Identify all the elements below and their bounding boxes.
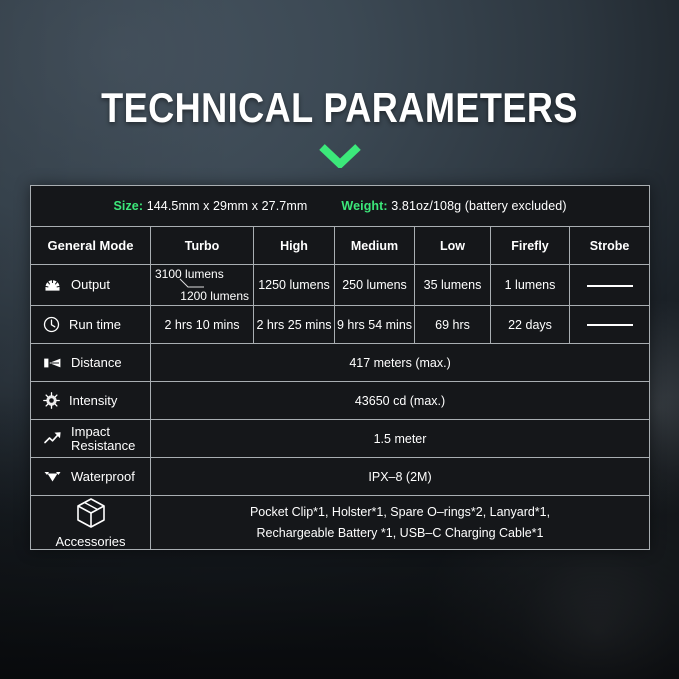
row-label-accessories: Accessories	[31, 496, 151, 550]
cell-waterproof-value: IPX–8 (2M)	[151, 458, 650, 496]
weight-spec: Weight: 3.81oz/108g (battery excluded)	[341, 199, 566, 213]
package-box-icon	[74, 496, 108, 530]
impact-label-line2: Resistance	[71, 438, 135, 453]
row-label-run-time: Run time	[31, 306, 151, 344]
target-intensity-icon	[43, 392, 60, 409]
size-value: 144.5mm x 29mm x 27.7mm	[147, 199, 308, 213]
row-label-text-accessories: Accessories	[55, 535, 125, 549]
cell-intensity-value: 43650 cd (max.)	[151, 382, 650, 420]
cell-distance-value: 417 meters (max.)	[151, 344, 650, 382]
cell-output-firefly: 1 lumens	[491, 265, 570, 306]
impact-label-line1: Impact	[71, 424, 110, 439]
column-header-turbo: Turbo	[151, 227, 254, 265]
size-weight-banner: Size: 144.5mm x 29mm x 27.7mm Weight: 3.…	[31, 186, 650, 227]
cell-output-medium: 250 lumens	[335, 265, 415, 306]
chevron-down-icon	[319, 144, 361, 168]
column-header-firefly: Firefly	[491, 227, 570, 265]
column-header-low: Low	[415, 227, 491, 265]
cell-runtime-strobe	[570, 306, 650, 344]
beam-distance-icon	[43, 356, 62, 370]
cell-runtime-turbo: 2 hrs 10 mins	[151, 306, 254, 344]
cell-impact-resistance-value: 1.5 meter	[151, 420, 650, 458]
row-label-text-run-time: Run time	[69, 318, 121, 332]
cell-runtime-firefly: 22 days	[491, 306, 570, 344]
table-header-row-modes: General Mode Turbo High Medium Low Firef…	[31, 227, 650, 265]
row-label-text-distance: Distance	[71, 356, 122, 370]
accessories-line-2: Rechargeable Battery *1, USB–C Charging …	[151, 523, 649, 544]
table-row-intensity: Intensity 43650 cd (max.)	[31, 382, 650, 420]
row-label-waterproof: Waterproof	[31, 458, 151, 496]
table-row-run-time: Run time 2 hrs 10 mins 2 hrs 25 mins 9 h…	[31, 306, 650, 344]
cell-output-strobe	[570, 265, 650, 306]
column-header-general-mode: General Mode	[31, 227, 151, 265]
cell-output-low: 35 lumens	[415, 265, 491, 306]
table-row-output: Output 3100 lumens 1200 lumens 1250 lume…	[31, 265, 650, 306]
table-row-distance: Distance 417 meters (max.)	[31, 344, 650, 382]
size-label: Size:	[113, 199, 143, 213]
row-label-text-output: Output	[71, 278, 110, 292]
size-spec: Size: 144.5mm x 29mm x 27.7mm	[113, 199, 307, 213]
page-title: TECHNICAL PARAMETERS	[48, 82, 632, 134]
row-label-output: Output	[31, 265, 151, 306]
accessories-line-1: Pocket Clip*1, Holster*1, Spare O–rings*…	[151, 502, 649, 523]
column-header-strobe: Strobe	[570, 227, 650, 265]
output-turbo-secondary: 1200 lumens	[180, 289, 249, 303]
row-label-distance: Distance	[31, 344, 151, 382]
weight-label: Weight:	[341, 199, 387, 213]
spec-table-container: Size: 144.5mm x 29mm x 27.7mm Weight: 3.…	[30, 185, 649, 550]
column-header-high: High	[254, 227, 335, 265]
row-label-text-impact-resistance: ImpactResistance	[71, 425, 135, 453]
empty-dash-icon	[587, 324, 633, 326]
cell-accessories-value: Pocket Clip*1, Holster*1, Spare O–rings*…	[151, 496, 650, 550]
cell-runtime-low: 69 hrs	[415, 306, 491, 344]
row-label-impact-resistance: ImpactResistance	[31, 420, 151, 458]
row-label-text-waterproof: Waterproof	[71, 470, 135, 484]
row-label-intensity: Intensity	[31, 382, 151, 420]
table-row-size-weight: Size: 144.5mm x 29mm x 27.7mm Weight: 3.…	[31, 186, 650, 227]
cell-runtime-high: 2 hrs 25 mins	[254, 306, 335, 344]
cell-runtime-medium: 9 hrs 54 mins	[335, 306, 415, 344]
row-label-text-intensity: Intensity	[69, 394, 117, 408]
table-row-accessories: Accessories Pocket Clip*1, Holster*1, Sp…	[31, 496, 650, 550]
empty-dash-icon	[587, 285, 633, 287]
cell-output-high: 1250 lumens	[254, 265, 335, 306]
spec-sheet-page: TECHNICAL PARAMETERS Size: 144.5mm x 29m…	[0, 0, 679, 679]
hammer-impact-icon	[43, 430, 62, 447]
title-block: TECHNICAL PARAMETERS	[0, 82, 679, 173]
weight-value: 3.81oz/108g (battery excluded)	[391, 199, 566, 213]
clock-icon	[43, 316, 60, 333]
column-header-medium: Medium	[335, 227, 415, 265]
technical-parameters-table: Size: 144.5mm x 29mm x 27.7mm Weight: 3.…	[30, 185, 650, 550]
cell-output-turbo: 3100 lumens 1200 lumens	[151, 265, 254, 306]
light-output-icon	[43, 278, 62, 293]
table-row-impact-resistance: ImpactResistance 1.5 meter	[31, 420, 650, 458]
table-row-waterproof: Waterproof IPX–8 (2M)	[31, 458, 650, 496]
water-drop-icon	[43, 469, 62, 484]
